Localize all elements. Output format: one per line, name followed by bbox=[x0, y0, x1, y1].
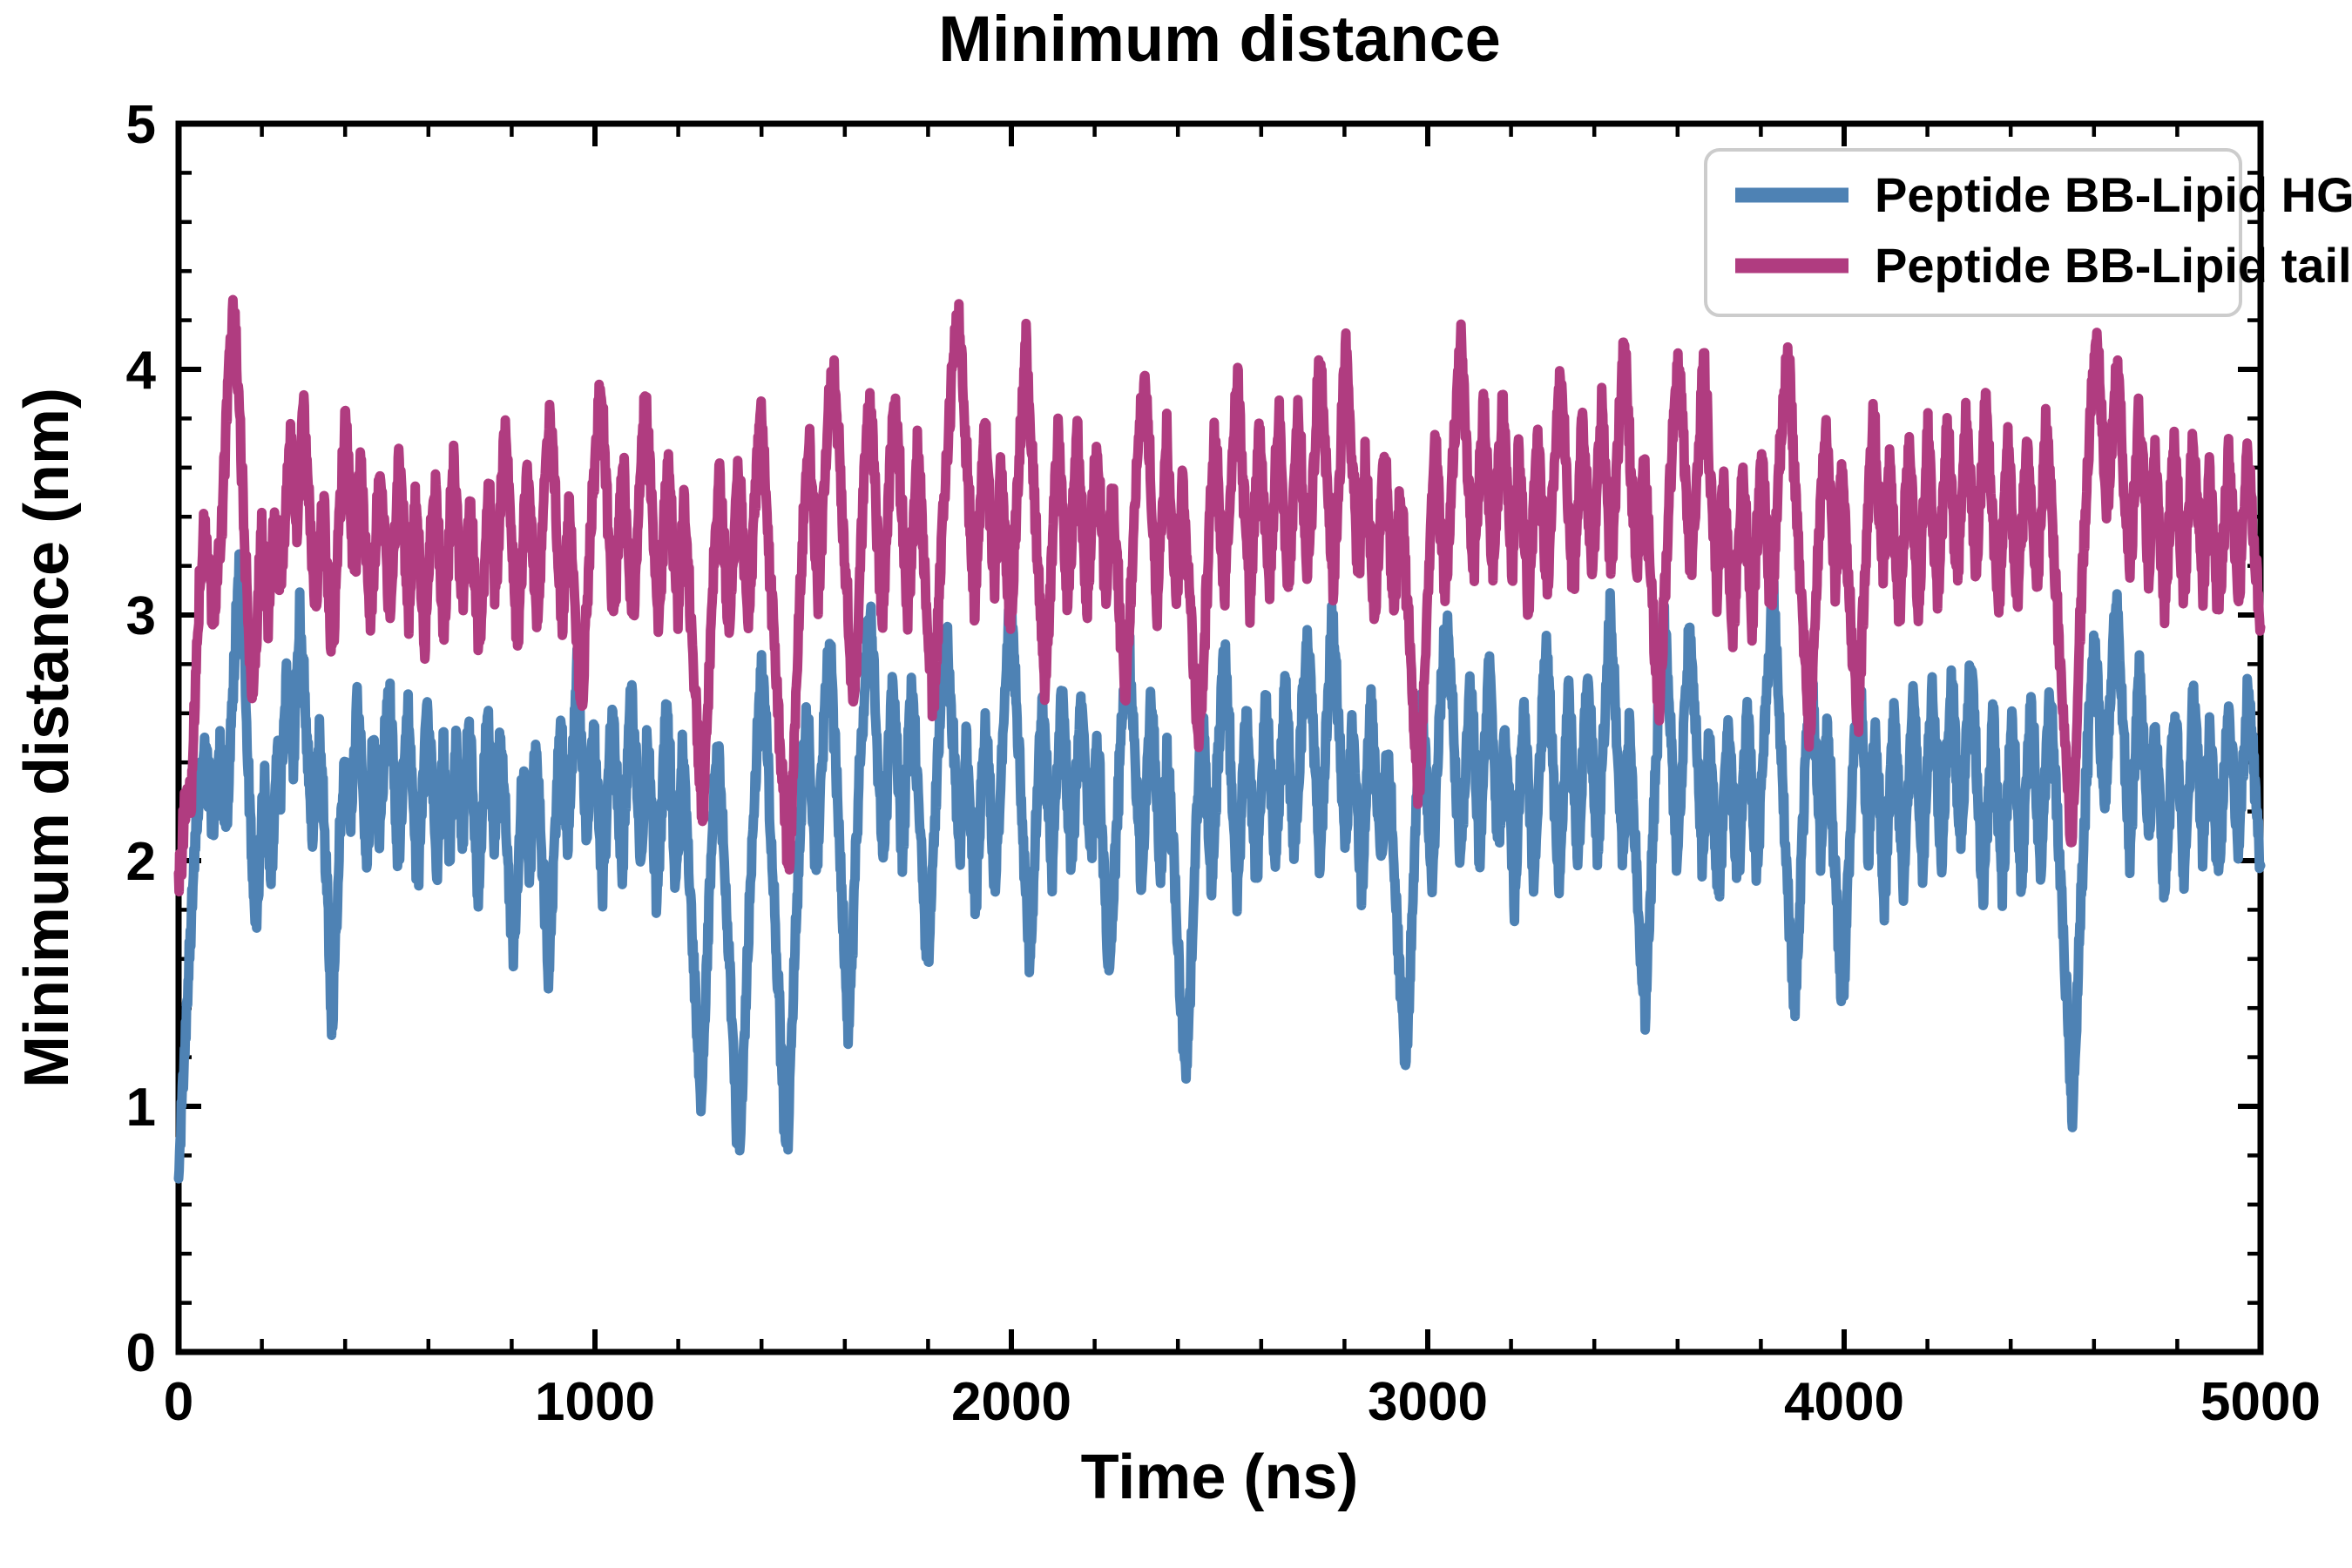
y-axis-title: Minimum distance (nm) bbox=[12, 388, 82, 1088]
y-tick-label: 0 bbox=[126, 1323, 156, 1383]
minimum-distance-chart: Minimum distance 010002000300040005000 0… bbox=[0, 0, 2352, 1568]
y-tick-label: 5 bbox=[126, 95, 156, 155]
y-tick-label: 3 bbox=[126, 586, 156, 646]
x-tick-label: 4000 bbox=[1784, 1372, 1904, 1432]
y-tick-label: 1 bbox=[126, 1078, 156, 1138]
x-axis-title: Time (ns) bbox=[1081, 1443, 1359, 1512]
legend-label-peptide-bb-lipid-hgs: Peptide BB-Lipid HGs bbox=[1875, 167, 2352, 222]
y-tick-label: 2 bbox=[126, 832, 156, 892]
legend-label-peptide-bb-lipid-tails: Peptide BB-Lipid tails bbox=[1875, 238, 2352, 293]
x-tick-label: 1000 bbox=[535, 1372, 655, 1432]
x-tick-label: 5000 bbox=[2200, 1372, 2321, 1432]
figure-container: Minimum distance 010002000300040005000 0… bbox=[0, 0, 2352, 1568]
x-tick-label: 3000 bbox=[1368, 1372, 1488, 1432]
x-tick-label: 2000 bbox=[951, 1372, 1071, 1432]
y-tick-label: 4 bbox=[126, 341, 157, 401]
chart-title: Minimum distance bbox=[938, 3, 1501, 75]
x-tick-label: 0 bbox=[164, 1372, 193, 1432]
